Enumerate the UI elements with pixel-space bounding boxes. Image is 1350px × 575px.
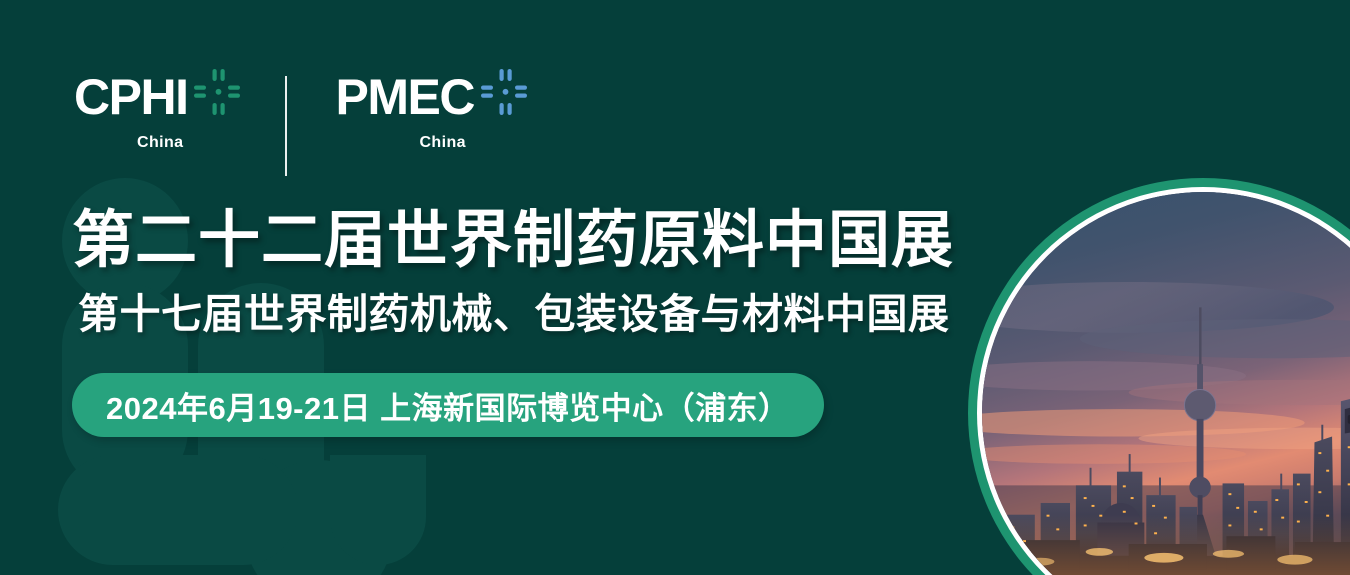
event-banner: CPHI China — [0, 0, 1350, 575]
sunburst-icon — [480, 68, 528, 116]
logo-divider — [285, 76, 287, 176]
skyline-photo-ring — [968, 178, 1350, 575]
cphi-wordmark: CPHI — [74, 72, 187, 122]
event-headline: 第二十二届世界制药原料中国展 — [72, 208, 954, 274]
date-venue-pill: 2024年6月19-21日 上海新国际博览中心（浦东） — [72, 373, 824, 437]
cphi-logo[interactable]: CPHI China — [74, 72, 241, 152]
pmec-logo-row: PMEC — [335, 72, 527, 122]
decorative-pill-2 — [58, 455, 298, 565]
cphi-logo-row: CPHI — [74, 72, 241, 122]
cphi-sub-label: China — [137, 134, 183, 152]
pmec-sub-label: China — [419, 134, 465, 152]
shanghai-skyline-illustration — [982, 192, 1350, 575]
decorative-arch-3 — [330, 455, 426, 565]
logo-lockup: CPHI China — [74, 72, 528, 176]
pmec-logo[interactable]: PMEC China — [335, 72, 527, 152]
skyline-photo — [982, 192, 1350, 575]
event-subheadline: 第十七届世界制药机械、包装设备与材料中国展 — [78, 291, 950, 337]
skyline-photo-white-ring — [977, 187, 1350, 575]
decorative-circle-2 — [245, 460, 393, 575]
sunburst-icon — [193, 68, 241, 116]
date-venue-text: 2024年6月19-21日 上海新国际博览中心（浦东） — [106, 383, 790, 428]
pmec-wordmark: PMEC — [335, 72, 473, 122]
